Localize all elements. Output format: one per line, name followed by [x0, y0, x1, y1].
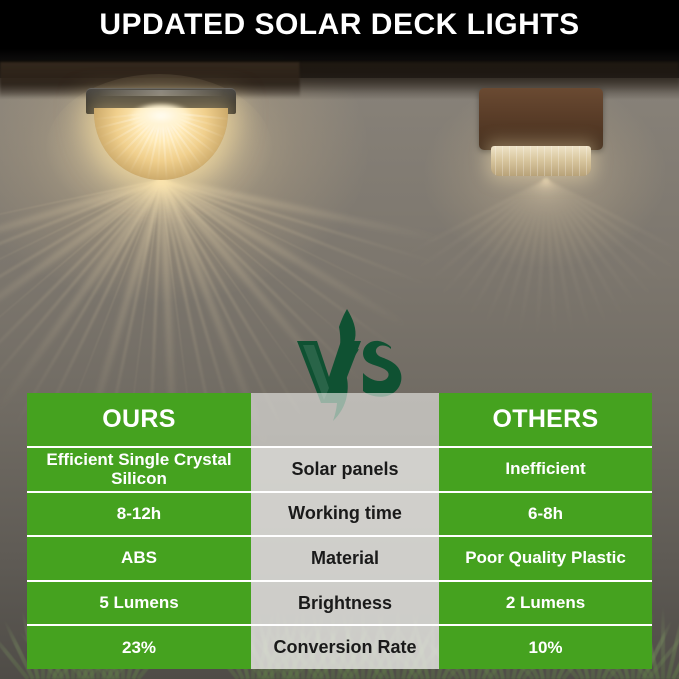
product-comparison-image: UPDATED SOLAR DECK LIGHTS OURS OTHERS Ef… [0, 0, 679, 679]
cell-feature: Working time [251, 491, 439, 536]
cell-ours: 23% [27, 624, 251, 669]
table-row: Efficient Single Crystal Silicon Solar p… [27, 446, 652, 491]
cell-ours: 8-12h [27, 491, 251, 536]
table-row: 8-12h Working time 6-8h [27, 491, 652, 536]
competitor-deck-light [479, 88, 619, 186]
cell-feature: Brightness [251, 580, 439, 625]
competitor-lamp-glass [491, 146, 591, 176]
header-feature [251, 393, 439, 446]
light-rays-right [420, 150, 679, 410]
competitor-lamp-body [479, 88, 603, 150]
cell-feature: Solar panels [251, 446, 439, 491]
table-row: 5 Lumens Brightness 2 Lumens [27, 580, 652, 625]
solar-deck-light-ours [80, 88, 242, 198]
cell-others: 10% [439, 624, 652, 669]
cell-others: 6-8h [439, 491, 652, 536]
cell-feature: Conversion Rate [251, 624, 439, 669]
cell-others: Inefficient [439, 446, 652, 491]
cell-feature: Material [251, 535, 439, 580]
lamp-led-core [130, 104, 192, 130]
comparison-table: OURS OTHERS Efficient Single Crystal Sil… [27, 393, 652, 669]
table-row: ABS Material Poor Quality Plastic [27, 535, 652, 580]
header-ours: OURS [27, 393, 251, 446]
lamp-top-highlight [98, 90, 224, 96]
cell-ours: 5 Lumens [27, 580, 251, 625]
page-title: UPDATED SOLAR DECK LIGHTS [0, 8, 679, 42]
cell-others: 2 Lumens [439, 580, 652, 625]
cell-ours: ABS [27, 535, 251, 580]
cell-others: Poor Quality Plastic [439, 535, 652, 580]
cell-ours: Efficient Single Crystal Silicon [27, 446, 251, 491]
table-row: 23% Conversion Rate 10% [27, 624, 652, 669]
header-others: OTHERS [439, 393, 652, 446]
table-header-row: OURS OTHERS [27, 393, 652, 446]
